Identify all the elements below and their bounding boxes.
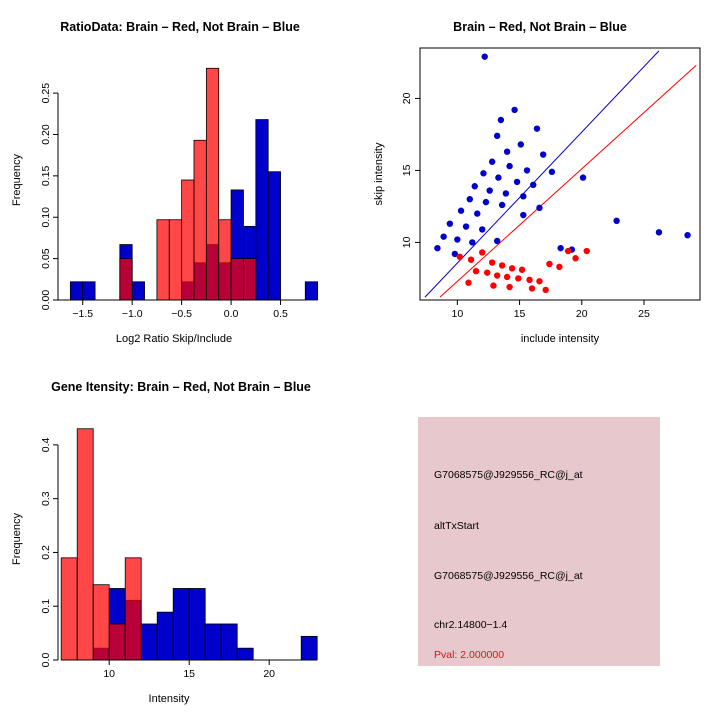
scatter-frame	[420, 48, 700, 300]
ratio-x-axis-tick-label: 0.0	[224, 308, 239, 320]
scatter-point-brain	[473, 268, 479, 274]
scatter-point-not-brain	[514, 179, 520, 185]
scatter-point-not-brain	[494, 238, 500, 244]
scatter-point-not-brain	[684, 232, 690, 238]
scatter-point-not-brain	[483, 199, 489, 205]
scatter-point-not-brain	[440, 233, 446, 239]
hist-bar-not-brain	[132, 282, 144, 300]
ratio-y-axis-tick-label: 0.00	[40, 290, 52, 311]
gene-bar-not-brain	[189, 588, 205, 660]
hist-bar-brain	[231, 259, 243, 300]
scatter-point-not-brain	[536, 205, 542, 211]
hist-bar-brain	[169, 220, 181, 300]
ratio-y-axis-tick-label: 0.25	[40, 83, 52, 104]
scatter-point-brain	[556, 264, 562, 270]
scatter-point-brain	[484, 269, 490, 275]
panel-gene-histogram: Gene Itensity: Brain – Red, Not Brain – …	[0, 360, 360, 720]
panel-gene-title: Gene Itensity: Brain – Red, Not Brain – …	[6, 380, 356, 394]
gene-y-axis-tick-label: 0.1	[40, 599, 52, 614]
scatter-point-not-brain	[463, 223, 469, 229]
scatter-point-not-brain	[447, 220, 453, 226]
hist-bar-not-brain	[268, 172, 280, 300]
scatter-point-not-brain	[504, 148, 510, 154]
gene-bar-brain	[93, 585, 109, 660]
scatter-point-not-brain	[549, 169, 555, 175]
gene-bar-not-brain	[237, 648, 253, 660]
scatter-point-brain	[499, 262, 505, 268]
scatter-point-not-brain	[520, 212, 526, 218]
gene-bar-not-brain	[173, 588, 189, 660]
scatter-y-axis-label: skip intensity	[373, 142, 385, 205]
scatter-point-not-brain	[482, 53, 488, 59]
scatter-x-tick-label: 15	[514, 308, 526, 320]
scatter-x-axis-label: include intensity	[521, 333, 600, 345]
hist-bar-brain	[243, 259, 255, 300]
scatter-point-brain	[536, 278, 542, 284]
scatter-point-not-brain	[467, 196, 473, 202]
scatter-point-not-brain	[511, 107, 517, 113]
scatter-point-not-brain	[518, 141, 524, 147]
scatter-y-tick-label: 10	[401, 236, 413, 248]
scatter-point-brain	[494, 272, 500, 278]
probe-info-box: G7068575@J929556_RC@j_at altTxStart G706…	[418, 417, 660, 666]
hist-bar-brain	[120, 259, 132, 300]
scatter-point-brain	[572, 255, 578, 261]
scatter-point-not-brain	[580, 174, 586, 180]
gene-bar-not-brain	[157, 612, 173, 660]
scatter-point-brain	[490, 282, 496, 288]
scatter-point-not-brain	[486, 187, 492, 193]
gene-x-axis-label: Intensity	[149, 693, 190, 705]
scatter-point-not-brain	[480, 170, 486, 176]
scatter-point-not-brain	[534, 125, 540, 131]
scatter-point-not-brain	[499, 202, 505, 208]
scatter-point-not-brain	[434, 245, 440, 251]
info-line-event-type: altTxStart	[434, 520, 479, 532]
fit-line-red-fit	[440, 65, 696, 297]
scatter-point-not-brain	[458, 208, 464, 214]
hist-bar-not-brain	[83, 282, 95, 300]
ratio-y-axis-tick-label: 0.10	[40, 207, 52, 228]
scatter-point-not-brain	[454, 236, 460, 242]
gene-bar-brain	[77, 429, 93, 660]
panel-ratio-title: RatioData: Brain – Red, Not Brain – Blue	[0, 20, 360, 34]
gene-y-axis-tick-label: 0.0	[40, 653, 52, 668]
hist-bar-brain	[182, 180, 194, 300]
figure-page: RatioData: Brain – Red, Not Brain – Blue…	[0, 0, 720, 720]
scatter-point-brain	[529, 285, 535, 291]
scatter-point-not-brain	[613, 218, 619, 224]
gene-bar-brain	[125, 558, 141, 660]
scatter-point-not-brain	[472, 183, 478, 189]
scatter-point-brain	[509, 265, 515, 271]
gene-x-axis-tick-label: 15	[183, 668, 195, 680]
scatter-x-tick-label: 25	[638, 308, 650, 320]
scatter-point-not-brain	[540, 151, 546, 157]
ratio-y-axis-tick-label: 0.05	[40, 248, 52, 269]
scatter-point-brain	[465, 280, 471, 286]
info-line-locus: chr2.14800−1.4	[434, 619, 507, 631]
hist-bar-not-brain	[256, 120, 268, 300]
scatter-plot: 10152025101520include intensityskip inte…	[360, 0, 720, 360]
hist-bar-not-brain	[70, 282, 82, 300]
hist-bar-brain	[194, 140, 206, 300]
hist-bar-brain	[206, 68, 218, 300]
scatter-point-brain	[546, 261, 552, 267]
panel-scatter: Brain – Red, Not Brain – Blue 1015202510…	[360, 0, 720, 360]
scatter-point-brain	[584, 248, 590, 254]
gene-y-axis-tick-label: 0.3	[40, 491, 52, 506]
gene-y-axis-tick-label: 0.2	[40, 545, 52, 560]
gene-y-axis-label: Frequency	[11, 513, 23, 565]
scatter-point-brain	[542, 287, 548, 293]
ratio-x-axis-tick-label: −1.0	[122, 308, 143, 320]
scatter-point-not-brain	[557, 245, 563, 251]
scatter-point-brain	[519, 267, 525, 273]
gene-bar-not-brain	[141, 624, 157, 660]
scatter-point-not-brain	[503, 190, 509, 196]
scatter-point-brain	[504, 274, 510, 280]
scatter-x-tick-label: 10	[451, 308, 463, 320]
scatter-y-tick-label: 20	[401, 92, 413, 104]
ratio-x-axis-tick-label: −1.5	[72, 308, 93, 320]
info-line-probeset: G7068575@J929556_RC@j_at	[434, 469, 583, 481]
scatter-point-brain	[468, 256, 474, 262]
scatter-point-not-brain	[520, 193, 526, 199]
scatter-point-brain	[479, 249, 485, 255]
info-line-pval: Pval: 2.000000	[434, 649, 504, 661]
ratio-y-axis-label: Frequency	[11, 154, 23, 206]
info-line-probeset-2: G7068575@J929556_RC@j_at	[434, 570, 583, 582]
ratio-y-axis-tick-label: 0.15	[40, 165, 52, 186]
scatter-point-brain	[565, 248, 571, 254]
scatter-point-not-brain	[479, 226, 485, 232]
scatter-point-brain	[515, 275, 521, 281]
gene-bar-brain	[109, 624, 125, 660]
hist-bar-not-brain	[305, 282, 317, 300]
gene-histogram-plot: 1015200.00.10.20.30.4IntensityFrequency	[0, 360, 360, 720]
hist-bar-brain	[219, 220, 231, 300]
scatter-point-not-brain	[494, 133, 500, 139]
hist-bar-brain	[157, 220, 169, 300]
scatter-x-tick-label: 20	[576, 308, 588, 320]
scatter-point-brain	[506, 284, 512, 290]
gene-bar-brain	[61, 558, 77, 660]
scatter-point-not-brain	[474, 210, 480, 216]
ratio-x-axis-label: Log2 Ratio Skip/Include	[116, 333, 232, 345]
panel-scatter-title: Brain – Red, Not Brain – Blue	[360, 20, 720, 34]
scatter-point-not-brain	[656, 229, 662, 235]
scatter-point-not-brain	[489, 159, 495, 165]
gene-bar-not-brain	[221, 624, 237, 660]
gene-bar-not-brain	[301, 636, 317, 660]
scatter-point-not-brain	[524, 167, 530, 173]
ratio-x-axis-tick-label: −0.5	[171, 308, 192, 320]
scatter-point-not-brain	[506, 163, 512, 169]
gene-x-axis-tick-label: 10	[103, 668, 115, 680]
scatter-point-brain	[457, 254, 463, 260]
panel-ratio-histogram: RatioData: Brain – Red, Not Brain – Blue…	[0, 0, 360, 360]
ratio-histogram-plot: −1.5−1.0−0.50.00.50.000.050.100.150.200.…	[0, 0, 360, 360]
scatter-point-not-brain	[498, 117, 504, 123]
ratio-y-axis-tick-label: 0.20	[40, 124, 52, 145]
scatter-point-not-brain	[495, 174, 501, 180]
scatter-y-tick-label: 15	[401, 164, 413, 176]
scatter-point-not-brain	[530, 182, 536, 188]
scatter-point-not-brain	[469, 239, 475, 245]
ratio-x-axis-tick-label: 0.5	[273, 308, 288, 320]
gene-y-axis-tick-label: 0.4	[40, 437, 52, 452]
scatter-point-brain	[489, 259, 495, 265]
gene-x-axis-tick-label: 20	[263, 668, 275, 680]
scatter-point-brain	[526, 277, 532, 283]
fit-line-blue-fit	[425, 51, 659, 297]
gene-bar-not-brain	[205, 624, 221, 660]
